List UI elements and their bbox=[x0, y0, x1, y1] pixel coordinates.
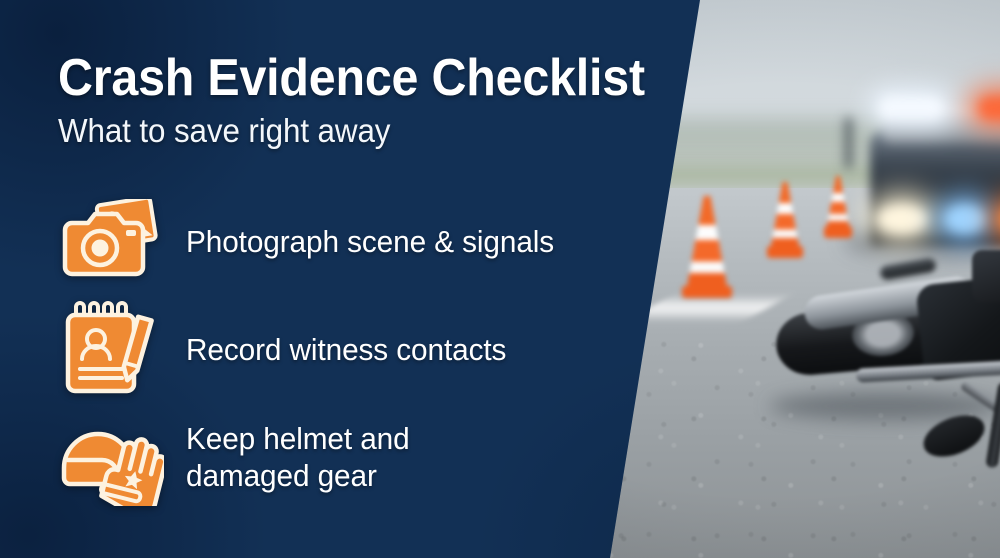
camera-photos-icon bbox=[56, 199, 176, 285]
list-item: Keep helmet and damaged gear bbox=[56, 408, 616, 508]
crash-evidence-checklist-graphic: Crash Evidence Checklist What to save ri… bbox=[0, 0, 1000, 558]
list-item: Photograph scene & signals bbox=[56, 192, 616, 292]
list-item-label: Photograph scene & signals bbox=[186, 224, 554, 261]
page-title: Crash Evidence Checklist bbox=[58, 48, 645, 108]
checklist: Photograph scene & signals bbox=[56, 192, 616, 516]
list-item-label: Record witness contacts bbox=[186, 332, 506, 369]
list-item: Record witness contacts bbox=[56, 300, 616, 400]
notepad-pencil-icon bbox=[56, 301, 176, 399]
helmet-glove-icon bbox=[56, 410, 176, 506]
page-subtitle: What to save right away bbox=[58, 112, 390, 150]
list-item-label: Keep helmet and damaged gear bbox=[186, 421, 410, 494]
